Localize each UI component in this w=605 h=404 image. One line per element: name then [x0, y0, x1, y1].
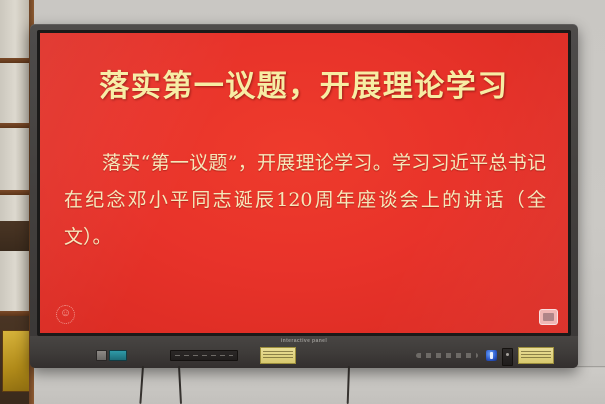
ir-sensor-window	[502, 348, 513, 366]
brand-logo: interactive panel	[30, 338, 578, 344]
display-bottom-bezel: interactive panel	[30, 336, 578, 368]
spec-label-sticker	[260, 347, 296, 364]
photo-scene: 落实第一议题，开展理论学习 落实“第一议题”，开展理论学习。学习习近平总书记在纪…	[0, 0, 605, 404]
bookshelf	[0, 0, 34, 404]
power-indicator-icon[interactable]	[486, 350, 497, 361]
slide-body-text: 落实“第一议题”，开展理论学习。学习习近平总书记在纪念邓小平同志诞辰120周年座…	[64, 145, 546, 256]
shelf-item	[2, 330, 30, 392]
interactive-flat-panel: 落实第一议题，开展理论学习 落实“第一议题”，开展理论学习。学习习近平总书记在纪…	[30, 24, 578, 368]
room-wall-lower	[0, 368, 605, 404]
screen-capture-widget-icon[interactable]	[539, 309, 558, 325]
slide-title: 落实第一议题，开展理论学习	[40, 61, 568, 105]
usb-port[interactable]	[96, 350, 107, 361]
presentation-screen[interactable]: 落实第一议题，开展理论学习 落实“第一议题”，开展理论学习。学习习近平总书记在纪…	[40, 33, 568, 333]
front-control-buttons[interactable]	[416, 353, 478, 358]
io-port-strip[interactable]	[170, 350, 238, 361]
smiley-face-icon: ☺	[56, 305, 75, 324]
safety-label-sticker	[518, 347, 554, 364]
network-port[interactable]	[109, 350, 127, 361]
